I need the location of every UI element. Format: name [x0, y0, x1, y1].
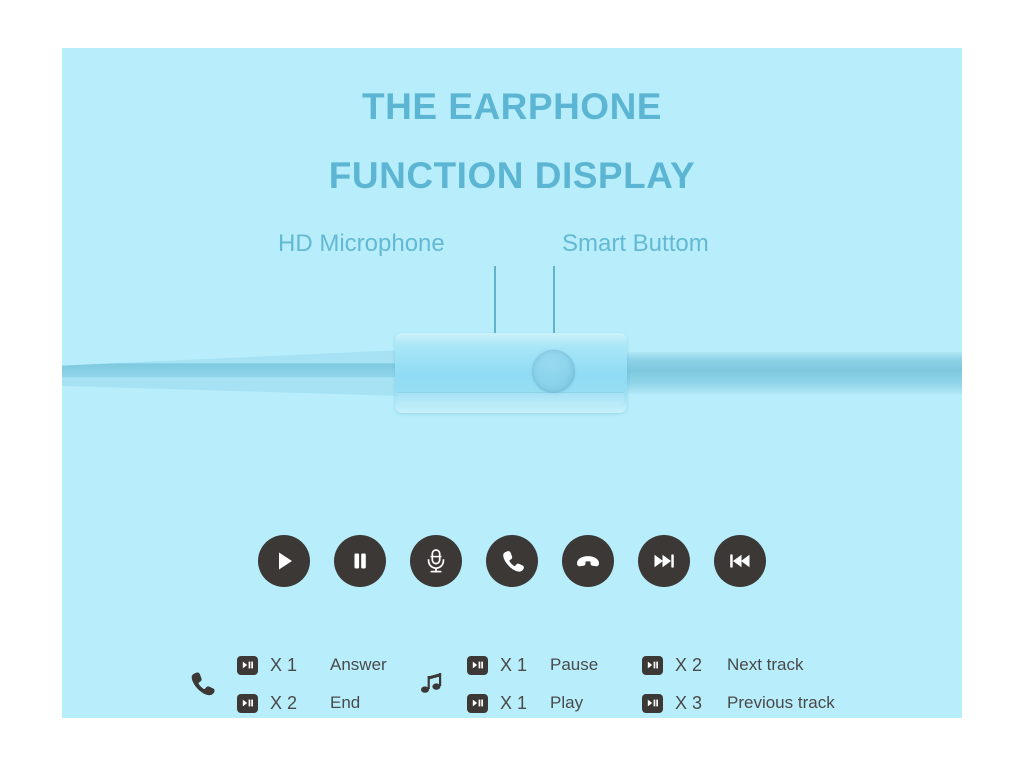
legend-action: Previous track — [727, 693, 835, 713]
next-track-icon — [638, 535, 690, 587]
callout-label-smart-button: Smart Buttom — [562, 230, 709, 258]
play-pause-badge-icon — [467, 694, 488, 713]
legend-count: X 1 — [270, 655, 330, 676]
phone-icon — [182, 664, 222, 704]
page-title-line-1: THE EARPHONE — [62, 86, 962, 128]
play-pause-badge-icon — [467, 656, 488, 675]
legend-count: X 3 — [675, 693, 727, 714]
legend-count: X 2 — [675, 655, 727, 676]
earphone-cable-right — [625, 352, 962, 394]
legend-rows-call: X 1 Answer X 2 End — [237, 646, 387, 722]
legend-count: X 1 — [500, 655, 550, 676]
legend-row: X 2 Next track — [642, 646, 835, 684]
play-icon — [258, 535, 310, 587]
pause-icon — [334, 535, 386, 587]
legend-action: Answer — [330, 655, 387, 675]
music-note-icon — [412, 664, 452, 704]
page-title-line-2: FUNCTION DISPLAY — [62, 155, 962, 197]
callout-label-hd-microphone: HD Microphone — [278, 230, 445, 258]
legend-action: Next track — [727, 655, 804, 675]
function-legend: X 1 Answer X 2 End — [62, 646, 962, 718]
legend-action: Play — [550, 693, 583, 713]
legend-action: End — [330, 693, 360, 713]
earphone-illustration — [62, 328, 962, 418]
play-pause-badge-icon — [237, 656, 258, 675]
legend-count: X 2 — [270, 693, 330, 714]
legend-rows-track: X 2 Next track X 3 Previous track — [642, 646, 835, 722]
play-pause-badge-icon — [642, 694, 663, 713]
smart-button[interactable] — [532, 350, 575, 393]
legend-row: X 1 Answer — [237, 646, 387, 684]
answer-call-icon — [486, 535, 538, 587]
legend-row: X 3 Previous track — [642, 684, 835, 722]
earphone-cable-left — [62, 350, 402, 396]
legend-count: X 1 — [500, 693, 550, 714]
legend-group-call: X 1 Answer X 2 End — [182, 646, 412, 718]
legend-row: X 1 Pause — [467, 646, 598, 684]
previous-track-icon — [714, 535, 766, 587]
play-pause-badge-icon — [642, 656, 663, 675]
legend-row: X 1 Play — [467, 684, 598, 722]
microphone-icon — [410, 535, 462, 587]
legend-row: X 2 End — [237, 684, 387, 722]
legend-action: Pause — [550, 655, 598, 675]
legend-rows-music: X 1 Pause X 1 Play — [467, 646, 598, 722]
module-seam — [398, 392, 624, 405]
screenshot-root: THE EARPHONE FUNCTION DISPLAY HD Microph… — [0, 0, 1024, 768]
legend-group-music: X 1 Pause X 1 Play — [412, 646, 602, 718]
inline-control-module — [395, 333, 627, 413]
end-call-icon — [562, 535, 614, 587]
function-icon-row — [62, 535, 962, 587]
play-pause-badge-icon — [237, 694, 258, 713]
product-info-panel: THE EARPHONE FUNCTION DISPLAY HD Microph… — [62, 48, 962, 718]
legend-group-track: X 2 Next track X 3 Previous track — [642, 646, 902, 718]
